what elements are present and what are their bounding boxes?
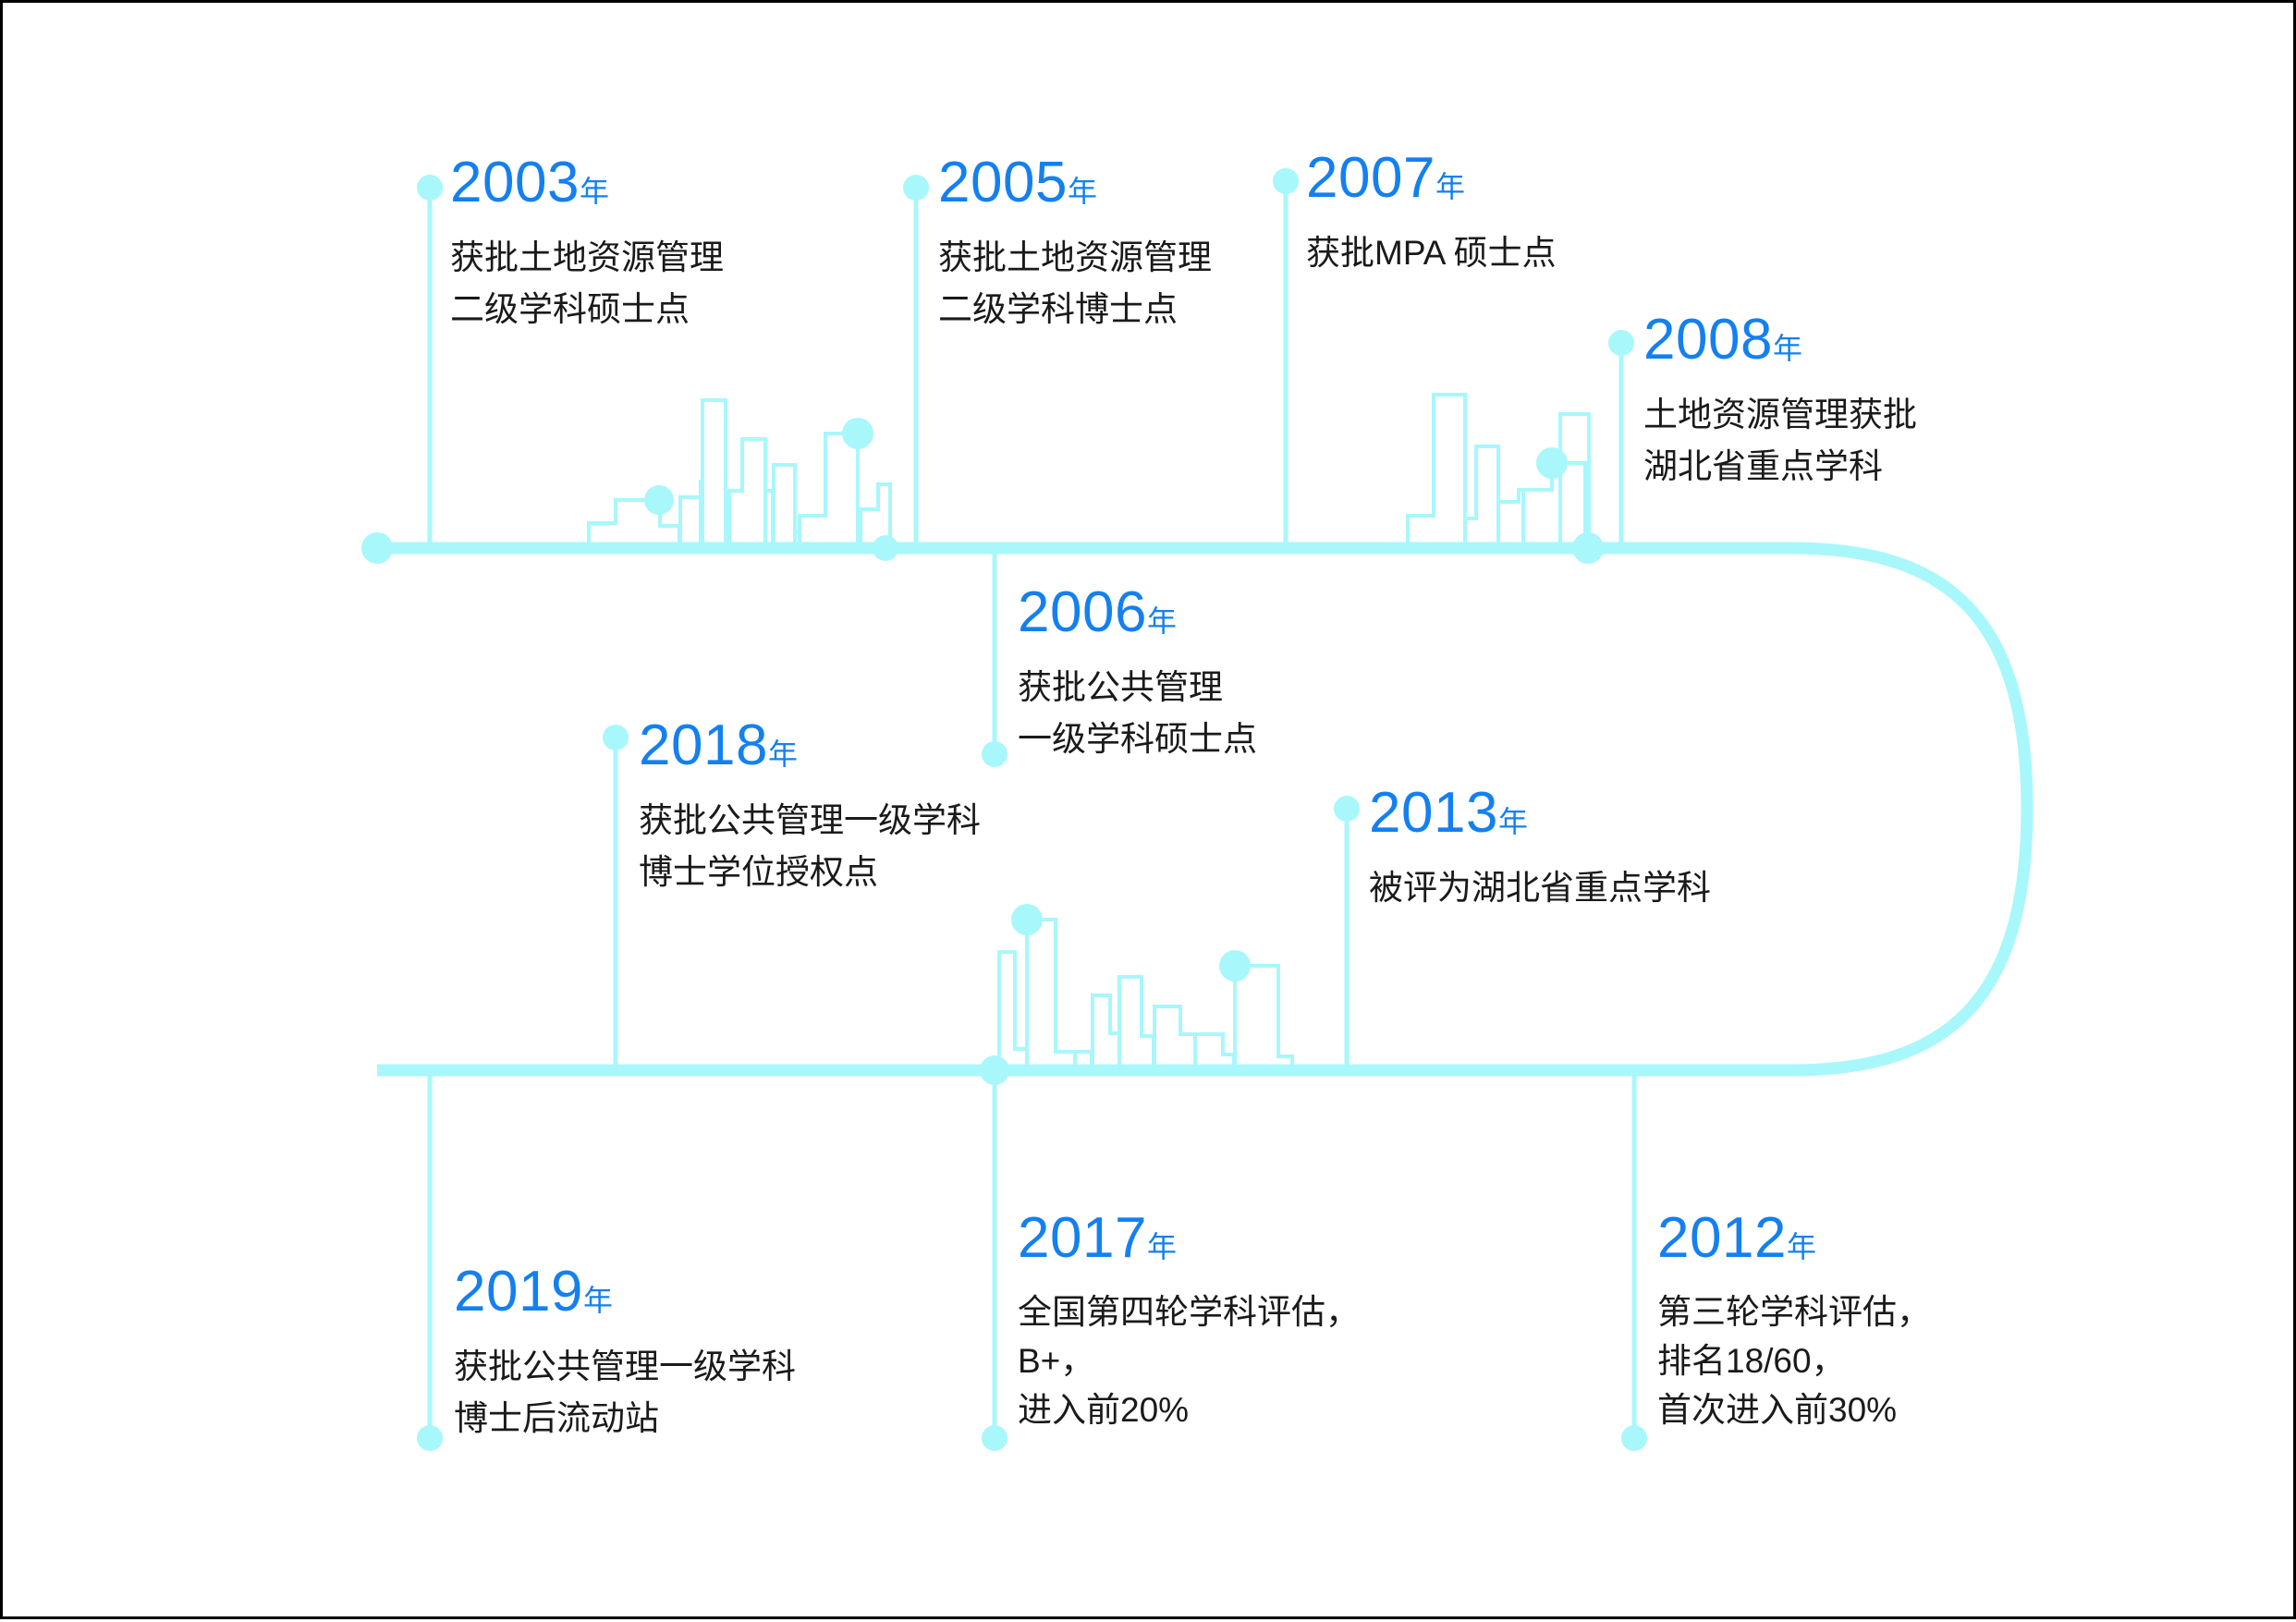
event-year-2006: 2006年 <box>1018 583 1257 651</box>
event-description-2007: 获批MPA 硕士点 <box>1306 227 1557 279</box>
node-dot-2017 <box>982 1425 1008 1451</box>
event-description-2018: 获批公共管理一级学科 博士学位授权点 <box>639 795 981 898</box>
node-dot-2018 <box>603 725 629 750</box>
event-description-2012: 第三轮学科评估， 排名18/60， 首次进入前30% <box>1657 1287 1931 1434</box>
event-year-2007: 2007年 <box>1306 149 1557 216</box>
timeline-event-2007[interactable]: 2007年 获批MPA 硕士点 <box>1306 149 1557 279</box>
event-description-2006: 获批公共管理 一级学科硕士点 <box>1018 662 1257 765</box>
event-year-2017: 2017年 <box>1018 1209 1360 1276</box>
node-dot-rail-b <box>1572 532 1604 564</box>
node-dot-rail-c <box>980 1055 1009 1085</box>
node-dot-2008 <box>1608 330 1634 356</box>
node-dot-2006 <box>982 741 1008 767</box>
timeline-event-2013[interactable]: 2013年 被评为湖北省重点学科 <box>1369 784 1711 914</box>
event-year-2005: 2005年 <box>938 153 1212 221</box>
event-description-2008: 土地资源管理获批 湖北省重点学科 <box>1643 389 1917 493</box>
timeline-event-2008[interactable]: 2008年 土地资源管理获批 湖北省重点学科 <box>1643 311 1917 493</box>
timeline-event-2005[interactable]: 2005年 获批土地资源管理 二级学科博士点 <box>938 153 1212 335</box>
timeline-event-2018[interactable]: 2018年 获批公共管理一级学科 博士学位授权点 <box>639 716 981 898</box>
event-year-2008: 2008年 <box>1643 311 1917 378</box>
node-dot-2003 <box>417 175 443 201</box>
timeline-event-2019[interactable]: 2019年 获批公共管理一级学科 博士后流动站 <box>454 1262 796 1445</box>
timeline-stage: 2003年 获批土地资源管理 二级学科硕士点 2005年 获批土地资源管理 二级… <box>3 3 2296 1622</box>
event-description-2013: 被评为湖北省重点学科 <box>1369 862 1711 914</box>
node-dot-2012 <box>1621 1425 1647 1451</box>
timeline-event-2012[interactable]: 2012年 第三轮学科评估， 排名18/60， 首次进入前30% <box>1657 1209 1931 1434</box>
node-dot-2007 <box>1273 168 1299 194</box>
node-dot-2005 <box>903 175 929 201</box>
event-description-2017: 全国第四轮学科评估， B+， 进入前20% <box>1018 1287 1360 1434</box>
timeline-event-2003[interactable]: 2003年 获批土地资源管理 二级学科硕士点 <box>450 153 724 335</box>
event-description-2019: 获批公共管理一级学科 博士后流动站 <box>454 1341 796 1445</box>
event-year-2019: 2019年 <box>454 1262 796 1330</box>
node-dot-2013 <box>1334 796 1360 822</box>
node-dot-rail-a <box>873 535 898 561</box>
timeline-event-2006[interactable]: 2006年 获批公共管理 一级学科硕士点 <box>1018 583 1257 765</box>
event-year-2018: 2018年 <box>639 716 981 784</box>
poster-frame: 2003年 获批土地资源管理 二级学科硕士点 2005年 获批土地资源管理 二级… <box>0 0 2296 1619</box>
event-description-2005: 获批土地资源管理 二级学科博士点 <box>938 232 1212 335</box>
timeline-event-2017[interactable]: 2017年 全国第四轮学科评估， B+， 进入前20% <box>1018 1209 1360 1434</box>
node-dot-skyline-c <box>1536 447 1568 479</box>
event-year-2003: 2003年 <box>450 153 724 221</box>
event-description-2003: 获批土地资源管理 二级学科硕士点 <box>450 232 724 335</box>
node-dot-2019 <box>417 1425 443 1451</box>
node-dot-skyline-d <box>1011 904 1043 935</box>
node-dot-skyline-a <box>644 485 674 515</box>
event-year-2012: 2012年 <box>1657 1209 1931 1276</box>
event-year-2013: 2013年 <box>1369 784 1711 851</box>
node-dot-rail-start <box>361 532 393 564</box>
node-dot-skyline-e <box>1219 950 1251 982</box>
node-dot-skyline-b <box>842 418 873 449</box>
